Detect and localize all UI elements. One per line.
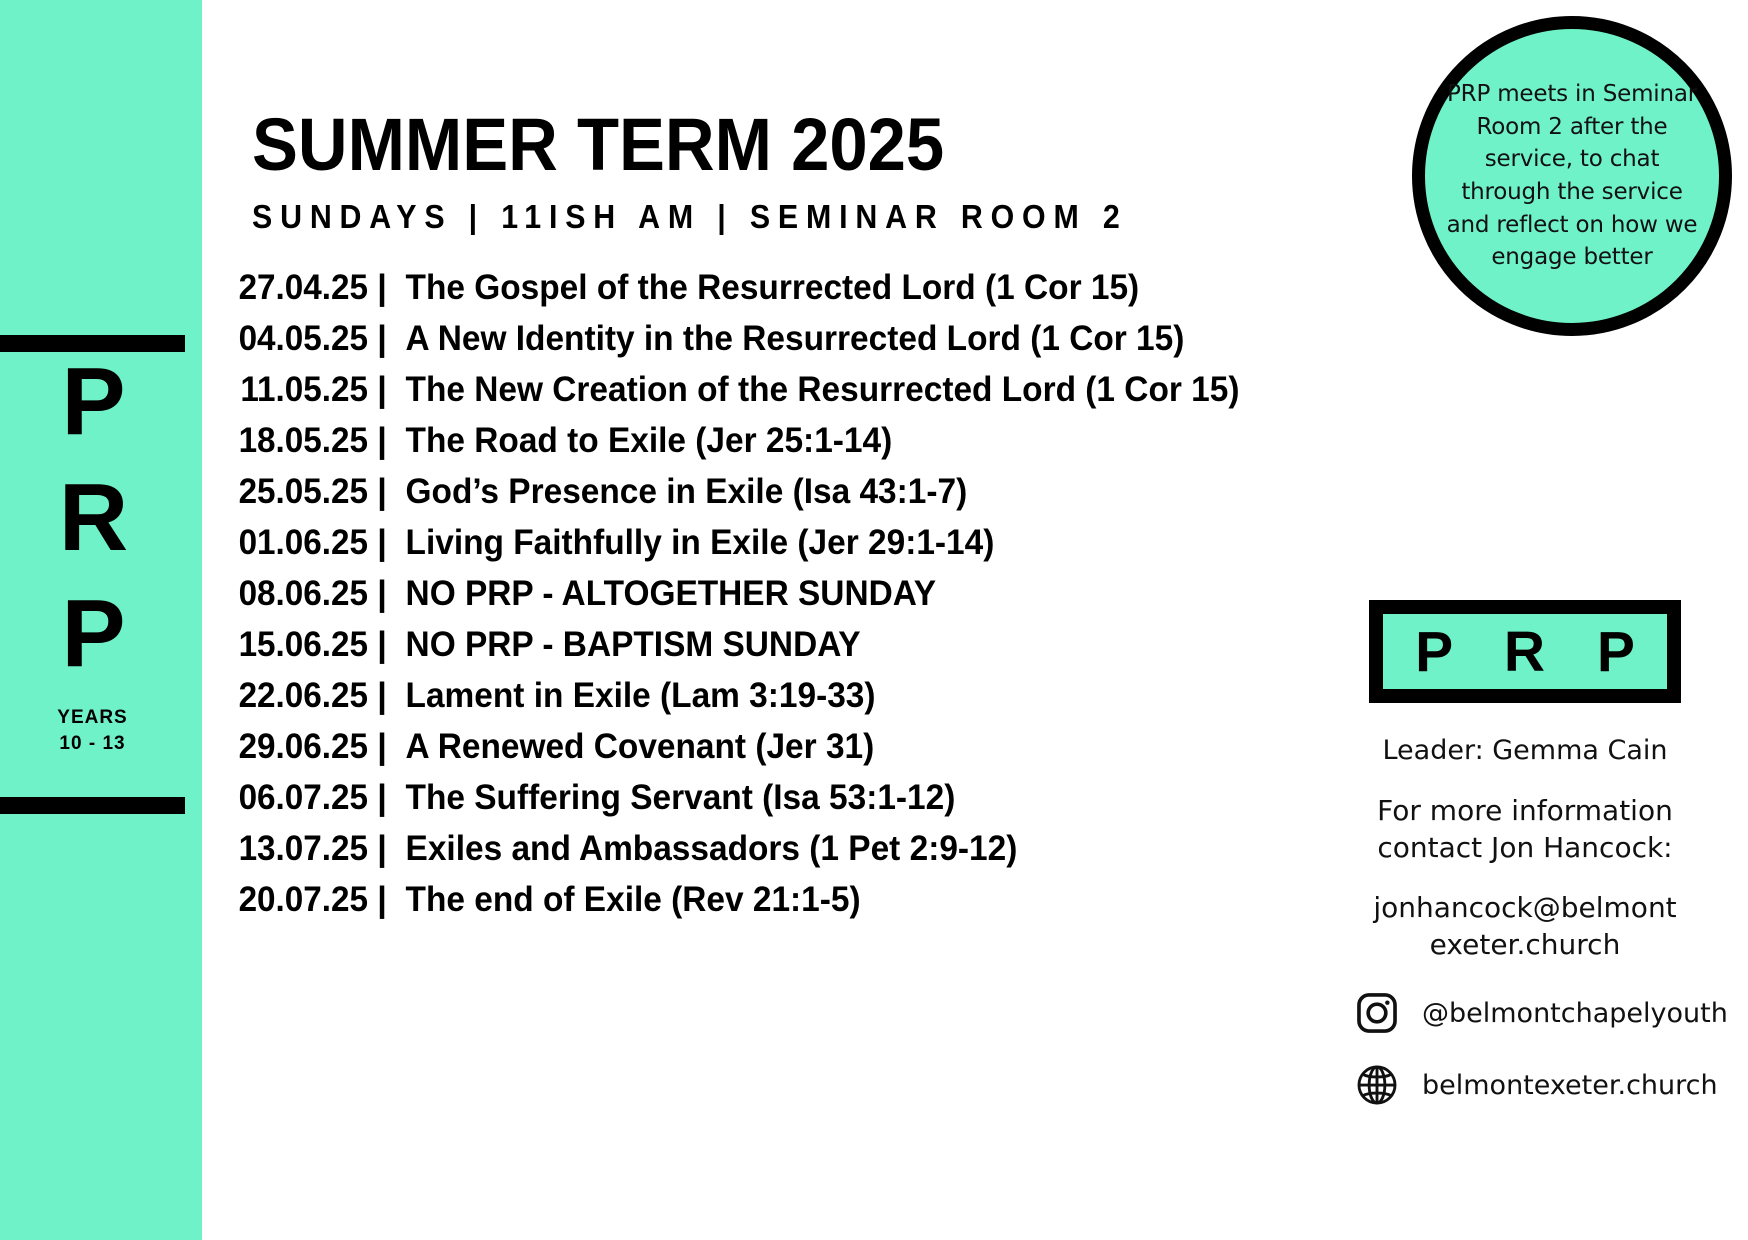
instagram-row[interactable]: @belmontchapelyouth (1330, 990, 1720, 1036)
schedule-title: God’s Presence in Exile (Isa 43:1-7) (396, 472, 967, 512)
page-subtitle: SUNDAYS | 11ISH AM | SEMINAR ROOM 2 (252, 198, 1190, 236)
schedule-list: 27.04.25|The Gospel of the Resurrected L… (200, 268, 1380, 931)
schedule-separator: | (368, 268, 396, 308)
schedule-date: 06.07.25 (208, 778, 368, 818)
schedule-date: 29.06.25 (208, 727, 368, 767)
years-range: 10 - 13 (0, 731, 185, 757)
leader-name: Leader: Gemma Cain (1330, 735, 1720, 766)
instagram-handle: @belmontchapelyouth (1422, 998, 1728, 1029)
schedule-title: The Suffering Servant (Isa 53:1-12) (396, 778, 955, 818)
schedule-row: 08.06.25|NO PRP - ALTOGETHER SUNDAY (200, 574, 1380, 625)
schedule-separator: | (368, 829, 396, 869)
schedule-title: Living Faithfully in Exile (Jer 29:1-14) (396, 523, 994, 563)
schedule-separator: | (368, 574, 396, 614)
schedule-separator: | (368, 421, 396, 461)
website-row[interactable]: belmontexeter.church (1330, 1062, 1720, 1108)
contact-instructions: For more information contact Jon Hancock… (1330, 792, 1720, 866)
schedule-separator: | (368, 727, 396, 767)
prp-badge-text: P R P (1397, 619, 1653, 685)
contact-email-line-2: exeter.church (1330, 927, 1720, 964)
schedule-title: A New Identity in the Resurrected Lord (… (396, 319, 1184, 359)
schedule-row: 11.05.25|The New Creation of the Resurre… (200, 370, 1380, 421)
left-sidebar: P R P YEARS 10 - 13 (0, 0, 202, 1240)
schedule-title: Exiles and Ambassadors (1 Pet 2:9-12) (396, 829, 1017, 869)
years-block: YEARS 10 - 13 (0, 705, 185, 756)
header: SUMMER TERM 2025 SUNDAYS | 11ISH AM | SE… (252, 108, 1272, 236)
prp-logo-letter-1: P (0, 355, 185, 449)
schedule-separator: | (368, 676, 396, 716)
schedule-date: 27.04.25 (208, 268, 368, 308)
schedule-separator: | (368, 523, 396, 563)
years-label: YEARS (0, 705, 185, 731)
schedule-title: The New Creation of the Resurrected Lord… (396, 370, 1239, 410)
contact-email[interactable]: jonhancock@belmont exeter.church (1330, 890, 1720, 964)
schedule-title: Lament in Exile (Lam 3:19-33) (396, 676, 876, 716)
contact-info-column: P R P Leader: Gemma Cain For more inform… (1330, 600, 1720, 1108)
schedule-row: 27.04.25|The Gospel of the Resurrected L… (200, 268, 1380, 319)
schedule-title: The end of Exile (Rev 21:1-5) (396, 880, 861, 920)
prp-vertical-logo: P R P (0, 355, 185, 681)
schedule-date: 04.05.25 (208, 319, 368, 359)
schedule-date: 11.05.25 (208, 370, 368, 410)
schedule-title: A Renewed Covenant (Jer 31) (396, 727, 874, 767)
schedule-row: 22.06.25|Lament in Exile (Lam 3:19-33) (200, 676, 1380, 727)
schedule-row: 29.06.25|A Renewed Covenant (Jer 31) (200, 727, 1380, 778)
schedule-title: The Road to Exile (Jer 25:1-14) (396, 421, 892, 461)
schedule-separator: | (368, 880, 396, 920)
contact-email-line-1: jonhancock@belmont (1330, 890, 1720, 927)
schedule-date: 25.05.25 (208, 472, 368, 512)
contact-instructions-line-1: For more information (1336, 792, 1714, 829)
schedule-row: 15.06.25|NO PRP - BAPTISM SUNDAY (200, 625, 1380, 676)
schedule-row: 20.07.25|The end of Exile (Rev 21:1-5) (200, 880, 1380, 931)
prp-logo-letter-2: R (0, 471, 185, 565)
info-circle-text: PRP meets in Seminar Room 2 after the se… (1441, 78, 1703, 274)
schedule-title: The Gospel of the Resurrected Lord (1 Co… (396, 268, 1139, 308)
instagram-icon (1354, 990, 1400, 1036)
schedule-row: 13.07.25|Exiles and Ambassadors (1 Pet 2… (200, 829, 1380, 880)
schedule-row: 25.05.25|God’s Presence in Exile (Isa 43… (200, 472, 1380, 523)
schedule-separator: | (368, 319, 396, 359)
schedule-date: 20.07.25 (208, 880, 368, 920)
schedule-date: 08.06.25 (208, 574, 368, 614)
schedule-row: 01.06.25|Living Faithfully in Exile (Jer… (200, 523, 1380, 574)
schedule-separator: | (368, 625, 396, 665)
prp-badge: P R P (1369, 600, 1681, 703)
schedule-date: 01.06.25 (208, 523, 368, 563)
prp-logo-letter-3: P (0, 587, 185, 681)
page-title: SUMMER TERM 2025 (252, 108, 1201, 182)
schedule-date: 18.05.25 (208, 421, 368, 461)
sidebar-bottom-rule (0, 797, 185, 814)
schedule-row: 18.05.25|The Road to Exile (Jer 25:1-14) (200, 421, 1380, 472)
globe-icon (1354, 1062, 1400, 1108)
contact-instructions-line-2: contact Jon Hancock: (1377, 831, 1672, 864)
website-url: belmontexeter.church (1422, 1070, 1718, 1101)
schedule-separator: | (368, 778, 396, 818)
schedule-date: 15.06.25 (208, 625, 368, 665)
schedule-date: 13.07.25 (208, 829, 368, 869)
schedule-separator: | (368, 472, 396, 512)
schedule-row: 04.05.25|A New Identity in the Resurrect… (200, 319, 1380, 370)
schedule-title: NO PRP - BAPTISM SUNDAY (396, 625, 861, 665)
schedule-title: NO PRP - ALTOGETHER SUNDAY (396, 574, 936, 614)
schedule-row: 06.07.25|The Suffering Servant (Isa 53:1… (200, 778, 1380, 829)
schedule-separator: | (368, 370, 396, 410)
schedule-date: 22.06.25 (208, 676, 368, 716)
info-circle-callout: PRP meets in Seminar Room 2 after the se… (1412, 16, 1732, 336)
